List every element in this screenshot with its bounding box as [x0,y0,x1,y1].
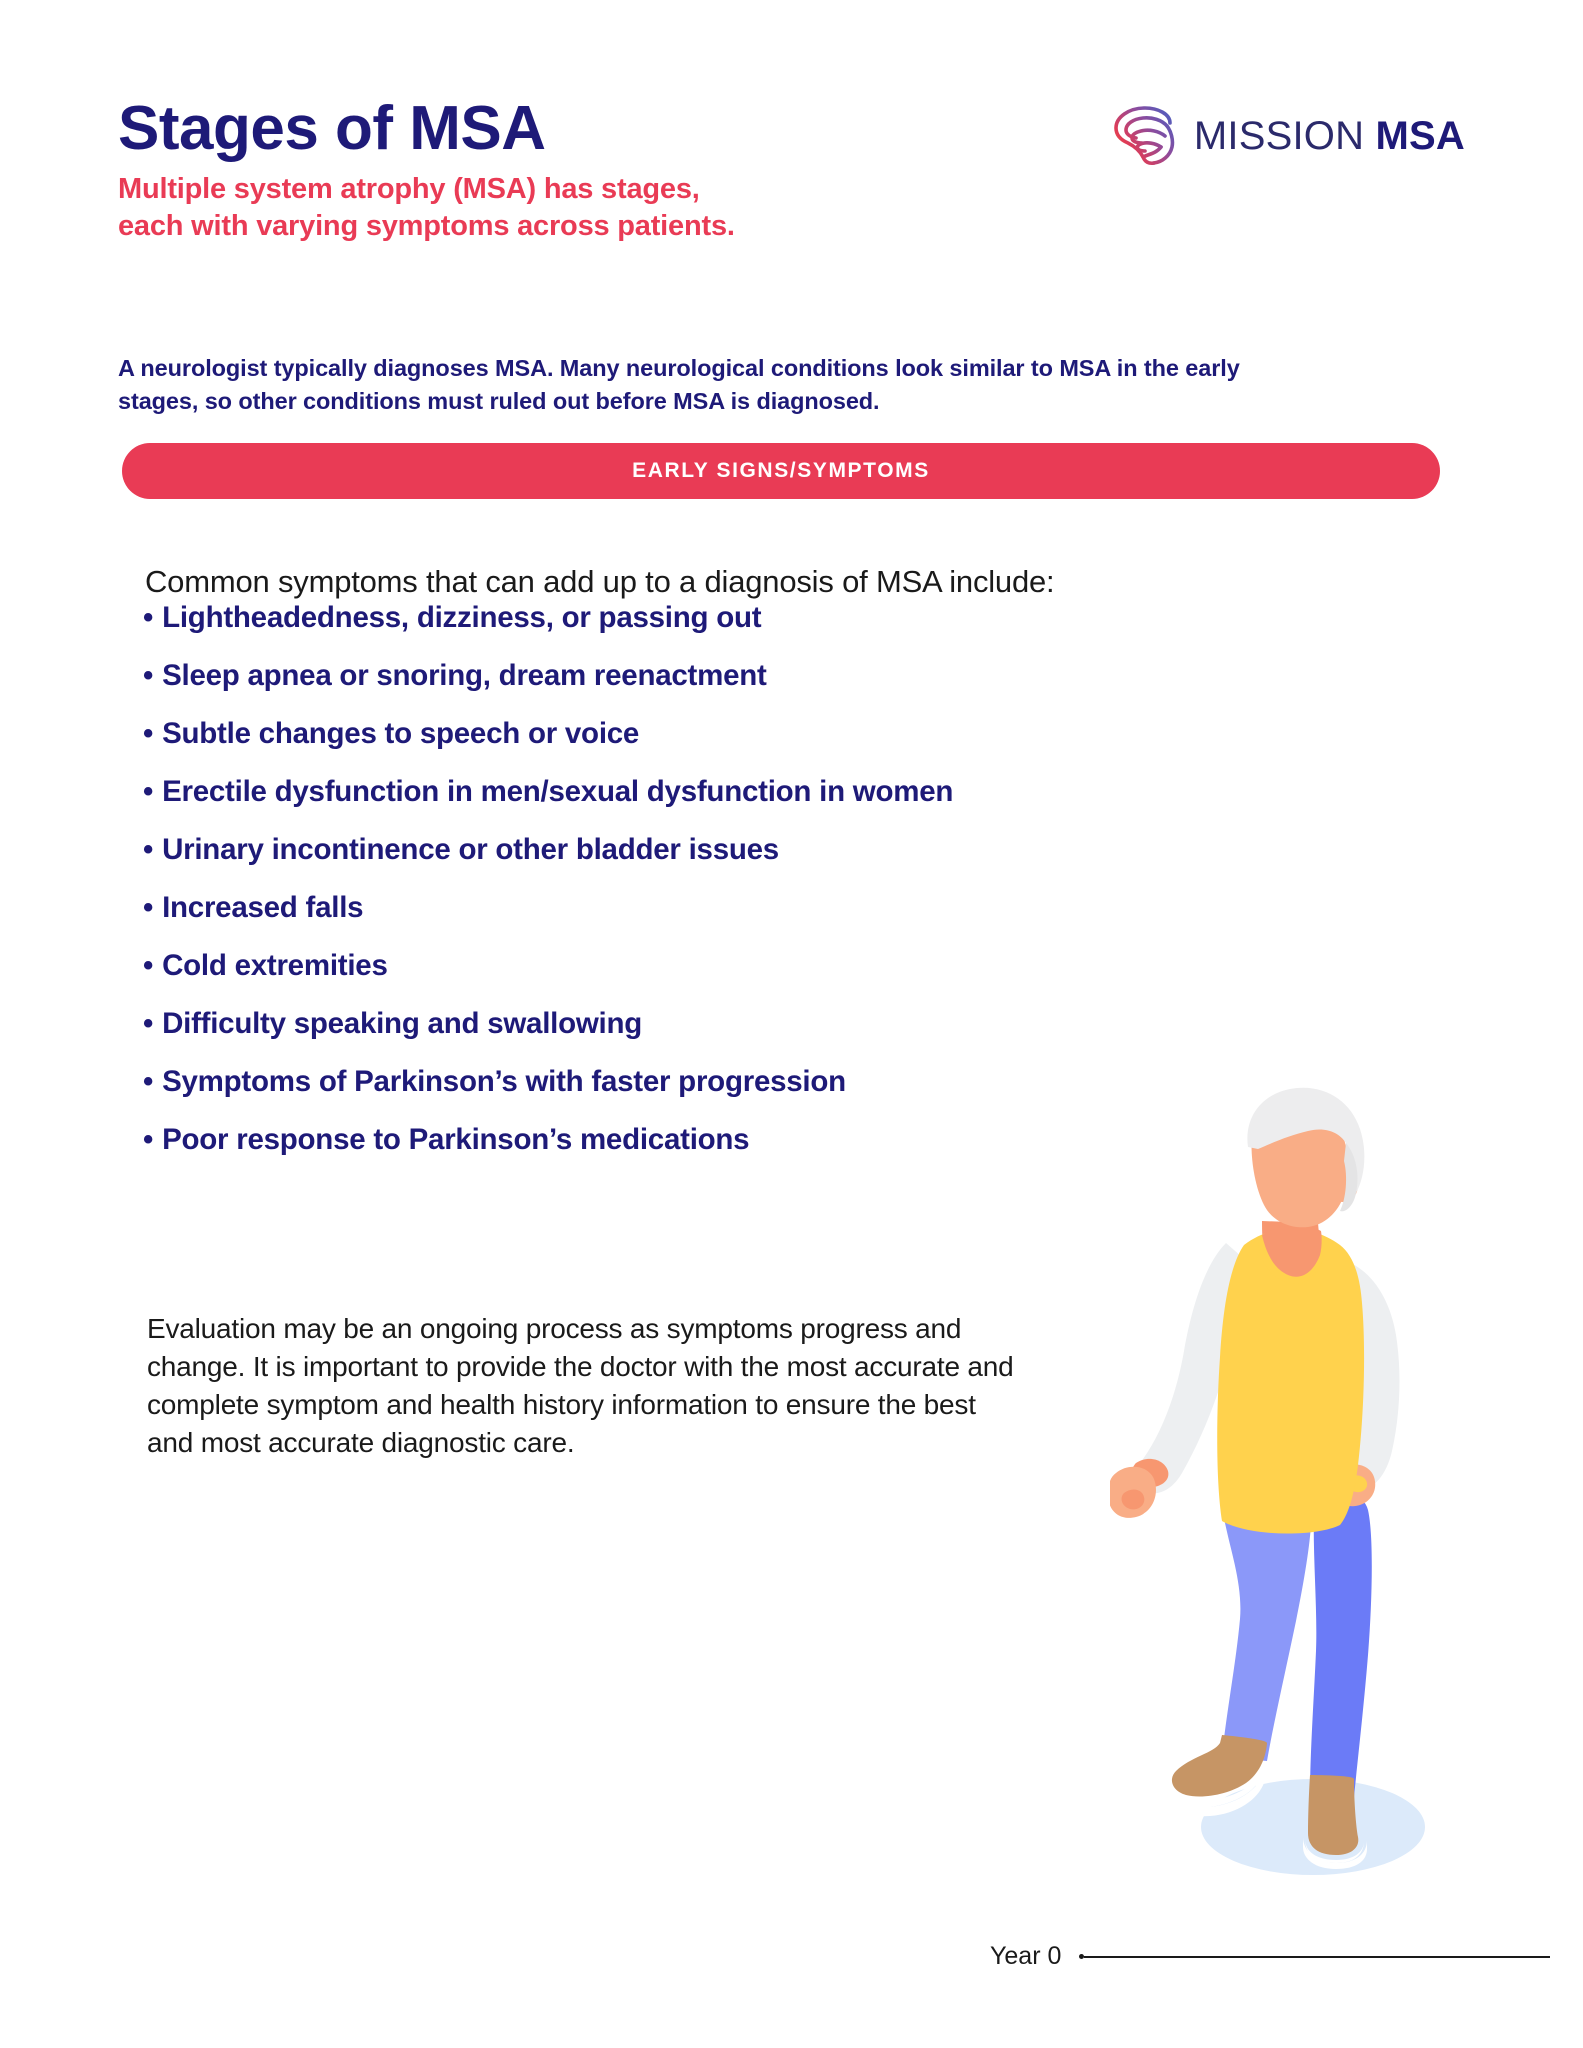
bullet-marker: • [143,833,153,866]
intro-paragraph: A neurologist typically diagnoses MSA. M… [118,352,1278,419]
list-item-label: Poor response to Parkinson’s medications [162,1123,749,1156]
list-item: •Symptoms of Parkinson’s with faster pro… [143,1067,1243,1097]
list-item-label: Increased falls [162,891,363,924]
list-item-label: Symptoms of Parkinson’s with faster prog… [162,1065,846,1098]
section-lead-in: Common symptoms that can add up to a dia… [145,564,1054,600]
list-item: •Erectile dysfunction in men/sexual dysf… [143,777,1243,807]
brain-icon [1110,104,1182,168]
list-item: •Difficulty speaking and swallowing [143,1009,1243,1039]
timeline-label-year-0: Year 0 [990,1942,1061,1971]
bullet-marker: • [143,775,153,808]
bullet-marker: • [143,601,153,634]
list-item: •Urinary incontinence or other bladder i… [143,835,1243,865]
bullet-marker: • [143,1007,153,1040]
banner-label: EARLY SIGNS/SYMPTOMS [632,459,930,483]
list-item-label: Urinary incontinence or other bladder is… [162,833,779,866]
list-item: •Poor response to Parkinson’s medication… [143,1125,1243,1155]
symptom-list: •Lightheadedness, dizziness, or passing … [143,603,1243,1183]
document-page: Stages of MSA Multiple system atrophy (M… [0,0,1583,2048]
bullet-marker: • [143,717,153,750]
list-item: •Cold extremities [143,951,1243,981]
subtitle-line-2: each with varying symptoms across patien… [118,210,735,242]
bullet-marker: • [143,659,153,692]
page-subtitle: Multiple system atrophy (MSA) has stages… [118,171,948,245]
early-signs-banner: EARLY SIGNS/SYMPTOMS [122,443,1440,499]
list-item-label: Sleep apnea or snoring, dream reenactmen… [162,659,767,692]
standing-elderly-person-illustration [1110,1085,1470,1895]
list-item: •Increased falls [143,893,1243,923]
list-item: •Lightheadedness, dizziness, or passing … [143,603,1243,633]
closing-paragraph: Evaluation may be an ongoing process as … [147,1310,1017,1462]
bullet-marker: • [143,1123,153,1156]
timeline: Year 0 [990,1942,1550,1971]
logo-wordmark: MISSION MSA [1194,114,1465,159]
list-item-label: Subtle changes to speech or voice [162,717,639,750]
list-item-label: Cold extremities [162,949,388,982]
list-item: •Subtle changes to speech or voice [143,719,1243,749]
list-item-label: Difficulty speaking and swallowing [162,1007,642,1040]
list-item-label: Erectile dysfunction in men/sexual dysfu… [162,775,953,808]
mission-msa-logo: MISSION MSA [1110,104,1465,168]
bullet-marker: • [143,949,153,982]
logo-word-mission: MISSION [1194,114,1364,158]
list-item: •Sleep apnea or snoring, dream reenactme… [143,661,1243,691]
bullet-marker: • [143,1065,153,1098]
timeline-line [1084,1956,1550,1958]
subtitle-line-1: Multiple system atrophy (MSA) has stages… [118,173,700,205]
logo-word-msa: MSA [1376,114,1466,158]
bullet-marker: • [143,891,153,924]
list-item-label: Lightheadedness, dizziness, or passing o… [162,601,761,634]
